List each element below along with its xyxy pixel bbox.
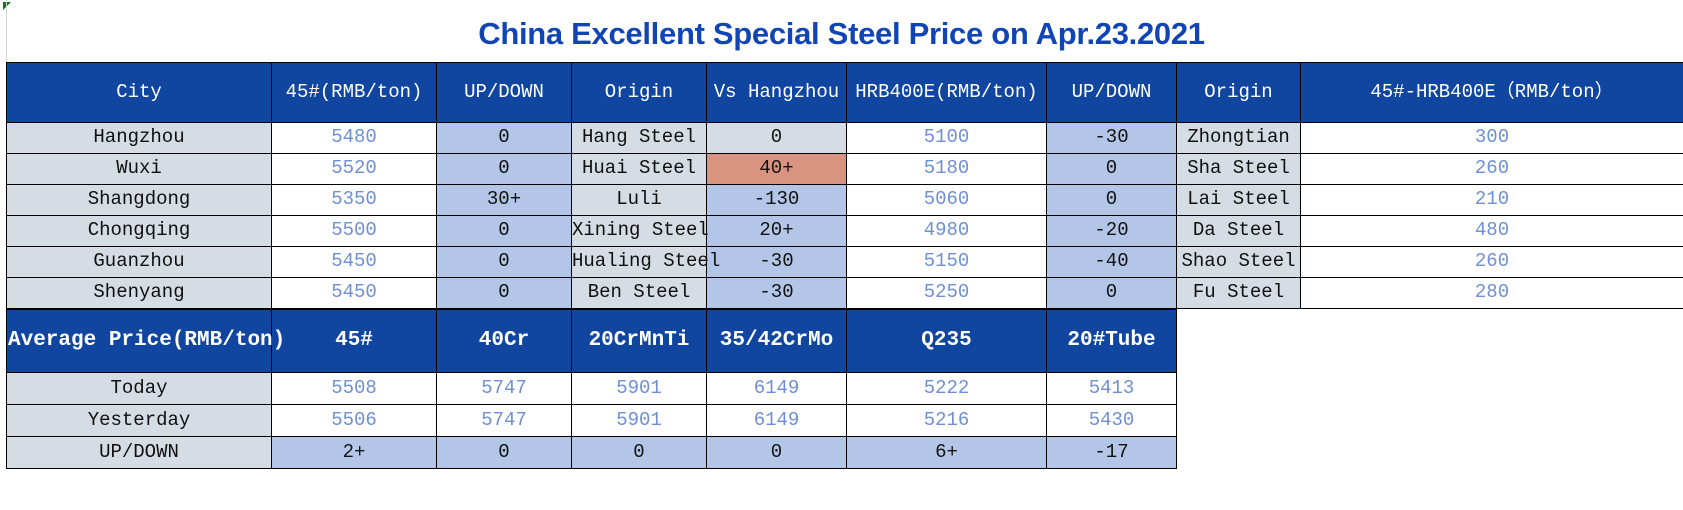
cell-price-45: 5480 [272,123,437,154]
grade-header-4: Q235 [847,310,1047,373]
table-header-row: City45#(RMB/ton)UP/DOWNOriginVs Hangzhou… [7,63,1683,123]
price-tables: City45#(RMB/ton)UP/DOWNOriginVs Hangzhou… [6,62,1683,469]
average-row-label: Yesterday [7,405,272,437]
cell-updown-hrb: -20 [1047,216,1177,247]
average-row-label: UP/DOWN [7,437,272,469]
column-header-3: Origin [572,63,707,123]
cell-updown-45: 0 [437,247,572,278]
average-row: Today550857475901614952225413 [7,373,1683,405]
cell-updown-hrb: 0 [1047,154,1177,185]
cell-spread: 480 [1301,216,1683,247]
grade-header-1: 40Cr [437,310,572,373]
cell-hrb400e: 5250 [847,278,1047,309]
column-header-0: City [7,63,272,123]
cell-hrb400e: 5180 [847,154,1047,185]
column-header-6: UP/DOWN [1047,63,1177,123]
average-cell-2: 0 [572,437,707,469]
cell-origin-45: Luli [572,185,707,216]
cell-city: Wuxi [7,154,272,185]
cell-hrb400e: 5100 [847,123,1047,154]
cell-price-45: 5350 [272,185,437,216]
cell-origin-hrb: Sha Steel [1177,154,1301,185]
average-header-row: Average Price(RMB/ton)45#40Cr20CrMnTi35/… [7,310,1683,373]
grade-header-5: 20#Tube [1047,310,1177,373]
average-cell-1: 5747 [437,373,572,405]
cell-city: Shenyang [7,278,272,309]
average-cell-2: 5901 [572,373,707,405]
average-cell-4: 5216 [847,405,1047,437]
cell-updown-hrb: 0 [1047,185,1177,216]
cell-origin-45: Hualing Steel [572,247,707,278]
empty-cell [1177,437,1683,469]
average-cell-1: 5747 [437,405,572,437]
cell-origin-45: Huai Steel [572,154,707,185]
cell-updown-45: 0 [437,278,572,309]
grade-header-3: 35/42CrMo [707,310,847,373]
cell-price-45: 5450 [272,278,437,309]
average-cell-5: 5413 [1047,373,1177,405]
cell-origin-hrb: Zhongtian [1177,123,1301,154]
average-cell-3: 6149 [707,373,847,405]
average-price-label: Average Price(RMB/ton) [7,310,272,373]
column-header-7: Origin [1177,63,1301,123]
cell-vs-hangzhou: 0 [707,123,847,154]
cell-vs-hangzhou: -30 [707,247,847,278]
cell-updown-45: 30+ [437,185,572,216]
cell-city: Guanzhou [7,247,272,278]
cell-origin-45: Ben Steel [572,278,707,309]
cell-spread: 280 [1301,278,1683,309]
cell-updown-45: 0 [437,154,572,185]
table-row: Hangzhou54800Hang Steel05100-30Zhongtian… [7,123,1683,154]
column-header-1: 45#(RMB/ton) [272,63,437,123]
cell-spread: 260 [1301,247,1683,278]
average-cell-4: 6+ [847,437,1047,469]
cell-hrb400e: 4980 [847,216,1047,247]
cell-updown-45: 0 [437,123,572,154]
average-row-label: Today [7,373,272,405]
table-row: Guanzhou54500Hualing Steel-305150-40Shao… [7,247,1683,278]
average-cell-5: -17 [1047,437,1177,469]
page-title: China Excellent Special Steel Price on A… [0,16,1683,52]
cell-origin-hrb: Fu Steel [1177,278,1301,309]
empty-cell [1177,310,1683,373]
grade-header-0: 45# [272,310,437,373]
cell-spread: 260 [1301,154,1683,185]
average-cell-1: 0 [437,437,572,469]
cell-city: Shangdong [7,185,272,216]
cell-origin-hrb: Da Steel [1177,216,1301,247]
average-cell-0: 2+ [272,437,437,469]
cell-price-45: 5500 [272,216,437,247]
average-cell-4: 5222 [847,373,1047,405]
average-cell-3: 0 [707,437,847,469]
average-row: Yesterday550657475901614952165430 [7,405,1683,437]
cell-hrb400e: 5060 [847,185,1047,216]
column-header-8: 45#-HRB400E（RMB/ton） [1301,63,1683,123]
column-header-4: Vs Hangzhou [707,63,847,123]
average-cell-0: 5506 [272,405,437,437]
cell-updown-hrb: 0 [1047,278,1177,309]
comment-indicator-icon [3,2,11,10]
empty-cell [1177,405,1683,437]
cell-price-45: 5450 [272,247,437,278]
empty-cell [1177,373,1683,405]
cell-origin-hrb: Lai Steel [1177,185,1301,216]
cell-hrb400e: 5150 [847,247,1047,278]
average-row: UP/DOWN2+0006+-17 [7,437,1683,469]
average-price-table: Average Price(RMB/ton)45#40Cr20CrMnTi35/… [6,309,1683,469]
cell-origin-hrb: Shao Steel [1177,247,1301,278]
cell-vs-hangzhou: 40+ [707,154,847,185]
cell-vs-hangzhou: -30 [707,278,847,309]
cell-spread: 300 [1301,123,1683,154]
average-cell-3: 6149 [707,405,847,437]
column-header-5: HRB400E(RMB/ton) [847,63,1047,123]
table-row: Shenyang54500Ben Steel-3052500Fu Steel28… [7,278,1683,309]
average-cell-2: 5901 [572,405,707,437]
cell-city: Hangzhou [7,123,272,154]
cell-origin-45: Hang Steel [572,123,707,154]
cell-city: Chongqing [7,216,272,247]
cell-origin-45: Xining Steel [572,216,707,247]
cell-updown-hrb: -30 [1047,123,1177,154]
table-row: Shangdong535030+Luli-13050600Lai Steel21… [7,185,1683,216]
table-row: Wuxi55200Huai Steel40+51800Sha Steel260 [7,154,1683,185]
table-row: Chongqing55000Xining Steel20+4980-20Da S… [7,216,1683,247]
city-price-table: City45#(RMB/ton)UP/DOWNOriginVs Hangzhou… [6,62,1683,309]
column-header-2: UP/DOWN [437,63,572,123]
average-cell-5: 5430 [1047,405,1177,437]
cell-spread: 210 [1301,185,1683,216]
cell-updown-45: 0 [437,216,572,247]
cell-price-45: 5520 [272,154,437,185]
cell-updown-hrb: -40 [1047,247,1177,278]
cell-vs-hangzhou: 20+ [707,216,847,247]
cell-vs-hangzhou: -130 [707,185,847,216]
average-cell-0: 5508 [272,373,437,405]
grade-header-2: 20CrMnTi [572,310,707,373]
